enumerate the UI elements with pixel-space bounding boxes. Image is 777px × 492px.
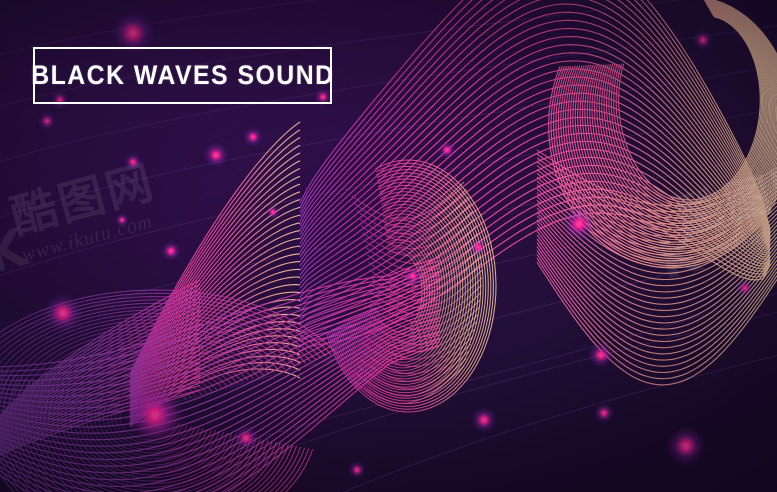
glow-dot-core	[152, 412, 157, 417]
glow-dot-core	[60, 310, 65, 315]
glow-dot-core	[683, 443, 688, 448]
glow-dot-core	[214, 153, 218, 157]
glow-dot-core	[46, 120, 49, 123]
glow-dot-core	[170, 250, 173, 253]
glow-dot-core	[702, 39, 705, 42]
title-plate: BLACK WAVES SOUND	[33, 47, 332, 104]
page-title: BLACK WAVES SOUND	[31, 60, 334, 91]
glow-dot-core	[446, 149, 449, 152]
glow-dot-core	[132, 161, 135, 164]
glow-dot-core	[130, 30, 136, 36]
glow-dot-core	[603, 412, 606, 415]
glow-dot-core	[599, 353, 603, 357]
glow-dot-core	[477, 246, 480, 249]
glow-dot-core	[121, 219, 123, 221]
glow-dot-core	[744, 287, 747, 290]
poster-canvas: K 酷图网 www.ikutu.com K 酷图网 www.ikutu.com …	[0, 0, 777, 492]
glow-dot-core	[356, 469, 359, 472]
glow-dot-core	[412, 275, 415, 278]
glow-dot-core	[577, 222, 582, 227]
glow-dot-core	[252, 136, 255, 139]
glow-dot-core	[272, 211, 274, 213]
glow-dot-core	[244, 436, 248, 440]
glow-dot-core	[482, 418, 486, 422]
